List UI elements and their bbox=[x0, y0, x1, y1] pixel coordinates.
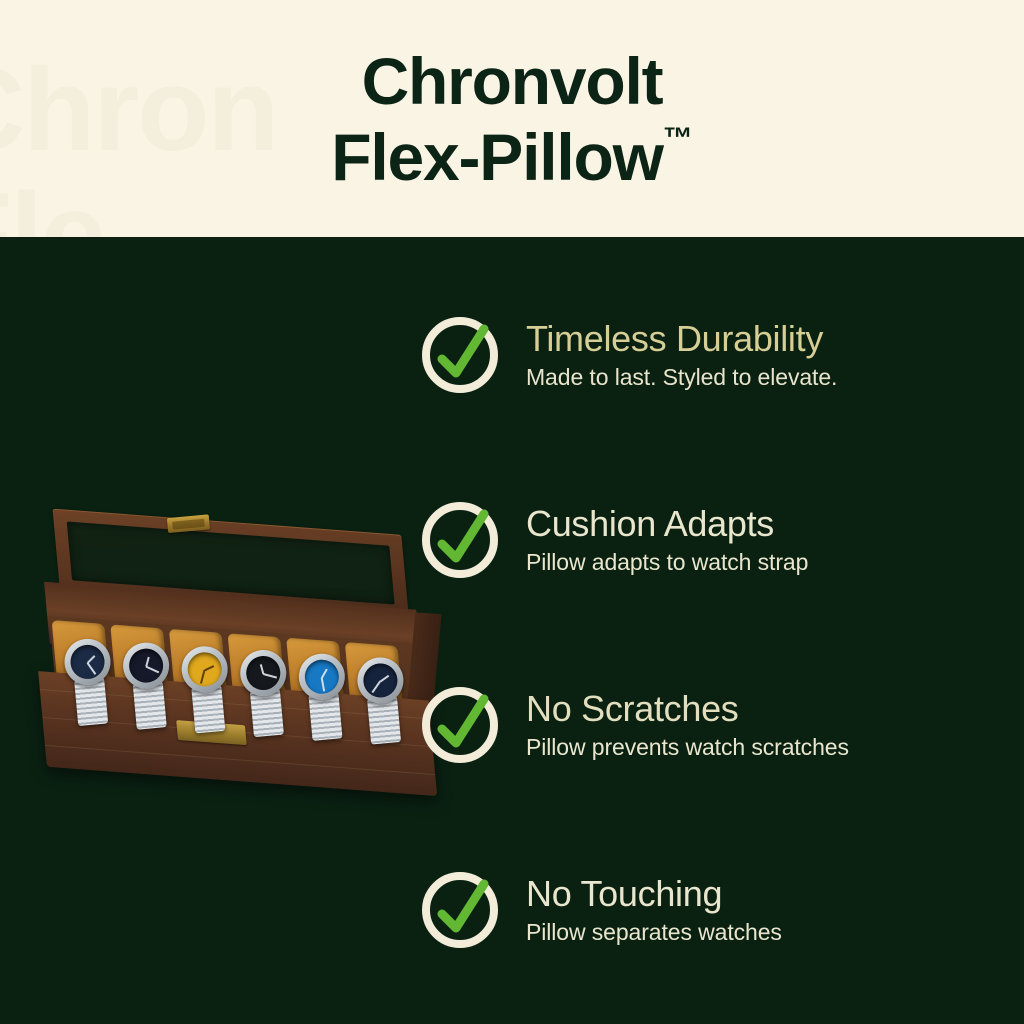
feature-list: Timeless Durability Made to last. Styled… bbox=[0, 237, 1024, 1024]
product-name-text: Flex-Pillow bbox=[331, 119, 663, 195]
feature-text-block: Cushion Adapts Pillow adapts to watch st… bbox=[526, 502, 808, 578]
feature-row-timeless-durability: Timeless Durability Made to last. Styled… bbox=[418, 305, 1018, 405]
feature-text-block: No Scratches Pillow prevents watch scrat… bbox=[526, 687, 849, 763]
feature-row-no-touching: No Touching Pillow separates watches bbox=[418, 860, 1018, 960]
feature-row-no-scratches: No Scratches Pillow prevents watch scrat… bbox=[418, 675, 1018, 775]
feature-text-block: Timeless Durability Made to last. Styled… bbox=[526, 317, 837, 393]
header-band: Chron Fle Chronvolt Flex-Pillow™ bbox=[0, 0, 1024, 237]
infographic-page: Chron Fle Chronvolt Flex-Pillow™ bbox=[0, 0, 1024, 1024]
feature-subtitle: Pillow separates watches bbox=[526, 917, 782, 948]
feature-title: No Scratches bbox=[526, 687, 849, 731]
feature-title: Cushion Adapts bbox=[526, 502, 808, 546]
check-circle-icon bbox=[418, 683, 502, 767]
check-circle-icon bbox=[418, 313, 502, 397]
brand-name-line-1: Chronvolt bbox=[362, 43, 663, 119]
brand-name-line-2: Flex-Pillow™ bbox=[331, 119, 693, 195]
feature-subtitle: Pillow prevents watch scratches bbox=[526, 732, 849, 763]
check-circle-icon bbox=[418, 868, 502, 952]
feature-title: No Touching bbox=[526, 872, 782, 916]
feature-row-cushion-adapts: Cushion Adapts Pillow adapts to watch st… bbox=[418, 490, 1018, 590]
feature-text-block: No Touching Pillow separates watches bbox=[526, 872, 782, 948]
check-circle-icon bbox=[418, 498, 502, 582]
feature-title: Timeless Durability bbox=[526, 317, 837, 361]
feature-subtitle: Made to last. Styled to elevate. bbox=[526, 362, 837, 393]
feature-subtitle: Pillow adapts to watch strap bbox=[526, 547, 808, 578]
header-ghost-watermark: Chron Fle bbox=[0, 48, 277, 237]
trademark-symbol: ™ bbox=[663, 119, 693, 159]
